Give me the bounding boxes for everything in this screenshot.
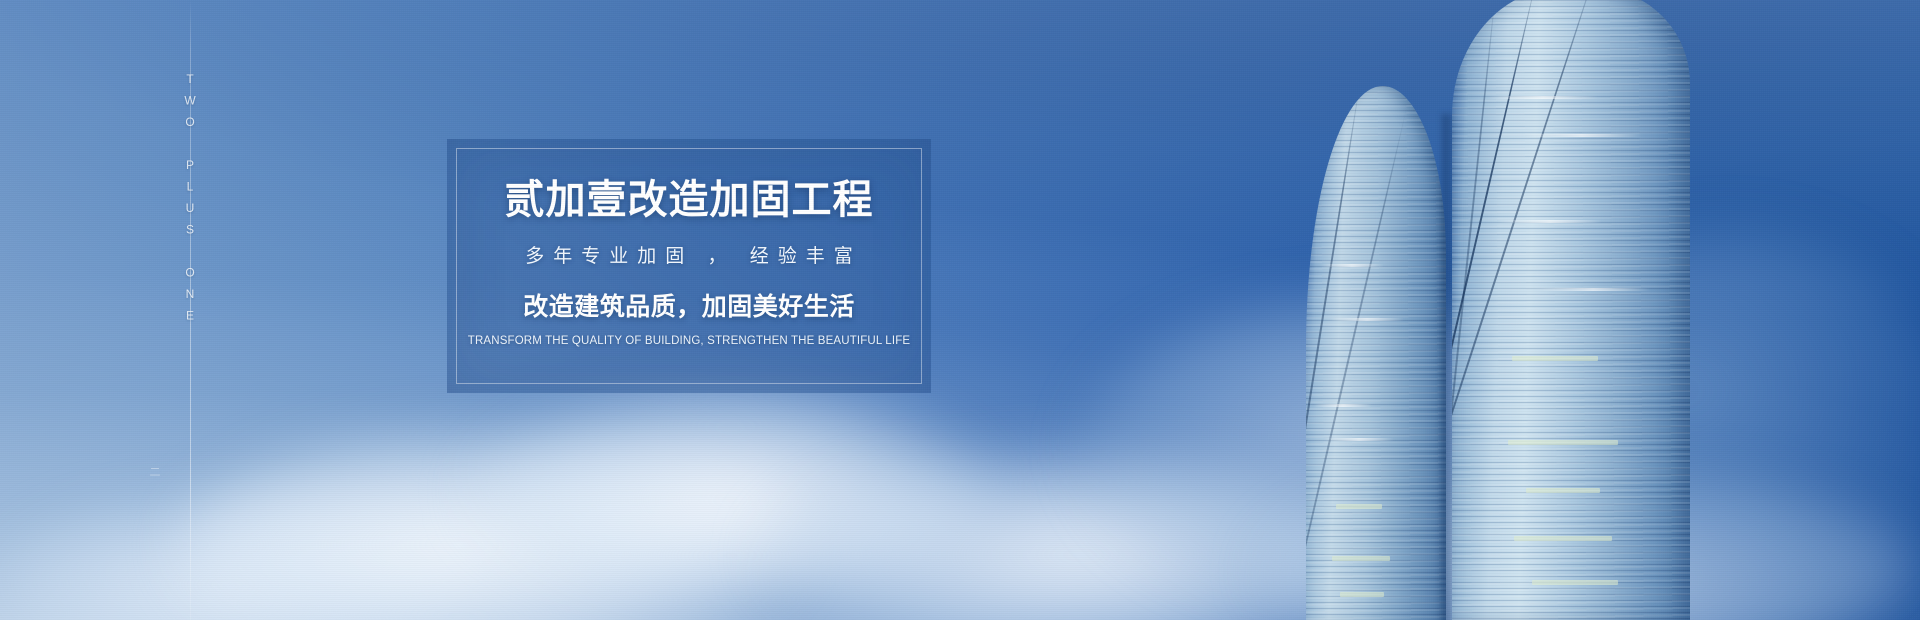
lit-window bbox=[1526, 488, 1600, 493]
brand-vertical-text: TWO PLUS ONE bbox=[179, 72, 201, 330]
facade-highlight bbox=[1306, 86, 1446, 620]
window-glint bbox=[1320, 264, 1384, 267]
facade-highlight bbox=[1452, 0, 1690, 620]
lit-window bbox=[1336, 504, 1382, 509]
corner-watermark: 二 bbox=[146, 466, 162, 478]
banner-stage: TWO PLUS ONE 二 贰加壹改造加固工程 多年专业加固 ， 经验丰富 改… bbox=[0, 0, 1920, 620]
tagline-chinese: 改造建筑品质，加固美好生活 bbox=[447, 292, 931, 323]
skyscraper-illustration bbox=[1300, 0, 1920, 620]
hero-text-panel: 贰加壹改造加固工程 多年专业加固 ， 经验丰富 改造建筑品质，加固美好生活 TR… bbox=[447, 139, 931, 393]
lit-window bbox=[1332, 556, 1390, 561]
subtitle-chinese: 多年专业加固 ， 经验丰富 bbox=[447, 245, 931, 270]
tower-main-shape bbox=[1452, 0, 1690, 620]
window-glint bbox=[1522, 134, 1642, 137]
lit-window bbox=[1532, 580, 1618, 585]
window-glint bbox=[1488, 96, 1598, 99]
lit-window bbox=[1514, 536, 1612, 541]
panel-content: 贰加壹改造加固工程 多年专业加固 ， 经验丰富 改造建筑品质，加固美好生活 TR… bbox=[447, 177, 931, 349]
window-glint bbox=[1330, 318, 1404, 321]
lit-window bbox=[1508, 440, 1618, 445]
tagline-english: TRANSFORM THE QUALITY OF BUILDING, STREN… bbox=[447, 334, 931, 349]
window-glint bbox=[1314, 404, 1372, 407]
lit-window bbox=[1512, 356, 1598, 361]
page-title: 贰加壹改造加固工程 bbox=[447, 177, 931, 223]
tower-left-shape bbox=[1306, 86, 1446, 620]
lit-window bbox=[1340, 592, 1384, 597]
window-glint bbox=[1536, 288, 1650, 291]
window-glint bbox=[1324, 438, 1394, 441]
window-glint bbox=[1498, 220, 1602, 223]
